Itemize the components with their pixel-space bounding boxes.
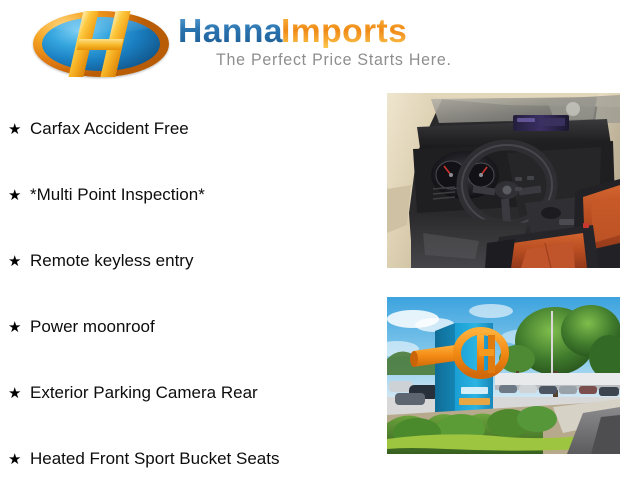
emblem-h-letter <box>42 11 160 77</box>
wordmark-imports: Imports <box>281 14 407 48</box>
brand-tagline: The Perfect Price Starts Here. <box>216 50 452 70</box>
list-item: ★ *Multi Point Inspection* <box>0 162 380 228</box>
star-bullet-icon: ★ <box>8 122 30 137</box>
brand-wordmark: HannaImports <box>178 14 405 48</box>
feature-label: Power moonroof <box>30 317 155 337</box>
feature-label: Exterior Parking Camera Rear <box>30 383 258 403</box>
wordmark-hanna: Hanna <box>178 14 283 48</box>
list-item: ★ Remote keyless entry <box>0 228 380 294</box>
list-item: ★ Heated Front Sport Bucket Seats <box>0 426 380 492</box>
dealership-exterior-photo[interactable] <box>387 297 620 454</box>
feature-label: Carfax Accident Free <box>30 119 189 139</box>
star-bullet-icon: ★ <box>8 188 30 203</box>
star-bullet-icon: ★ <box>8 254 30 269</box>
hanna-h-oval-emblem-icon <box>33 11 169 77</box>
feature-label: Remote keyless entry <box>30 251 193 271</box>
list-item: ★ Exterior Parking Camera Rear <box>0 360 380 426</box>
dealer-header-banner: HannaImports The Perfect Price Starts He… <box>0 0 640 90</box>
emblem-h-crossbar <box>77 39 124 50</box>
feature-label: *Multi Point Inspection* <box>30 185 205 205</box>
list-item: ★ Carfax Accident Free <box>0 96 380 162</box>
star-bullet-icon: ★ <box>8 452 30 467</box>
vehicle-feature-list: ★ Carfax Accident Free ★ *Multi Point In… <box>0 96 380 492</box>
star-bullet-icon: ★ <box>8 320 30 335</box>
feature-label: Heated Front Sport Bucket Seats <box>30 449 279 469</box>
list-item: ★ Power moonroof <box>0 294 380 360</box>
star-bullet-icon: ★ <box>8 386 30 401</box>
vehicle-interior-photo[interactable] <box>387 93 620 268</box>
